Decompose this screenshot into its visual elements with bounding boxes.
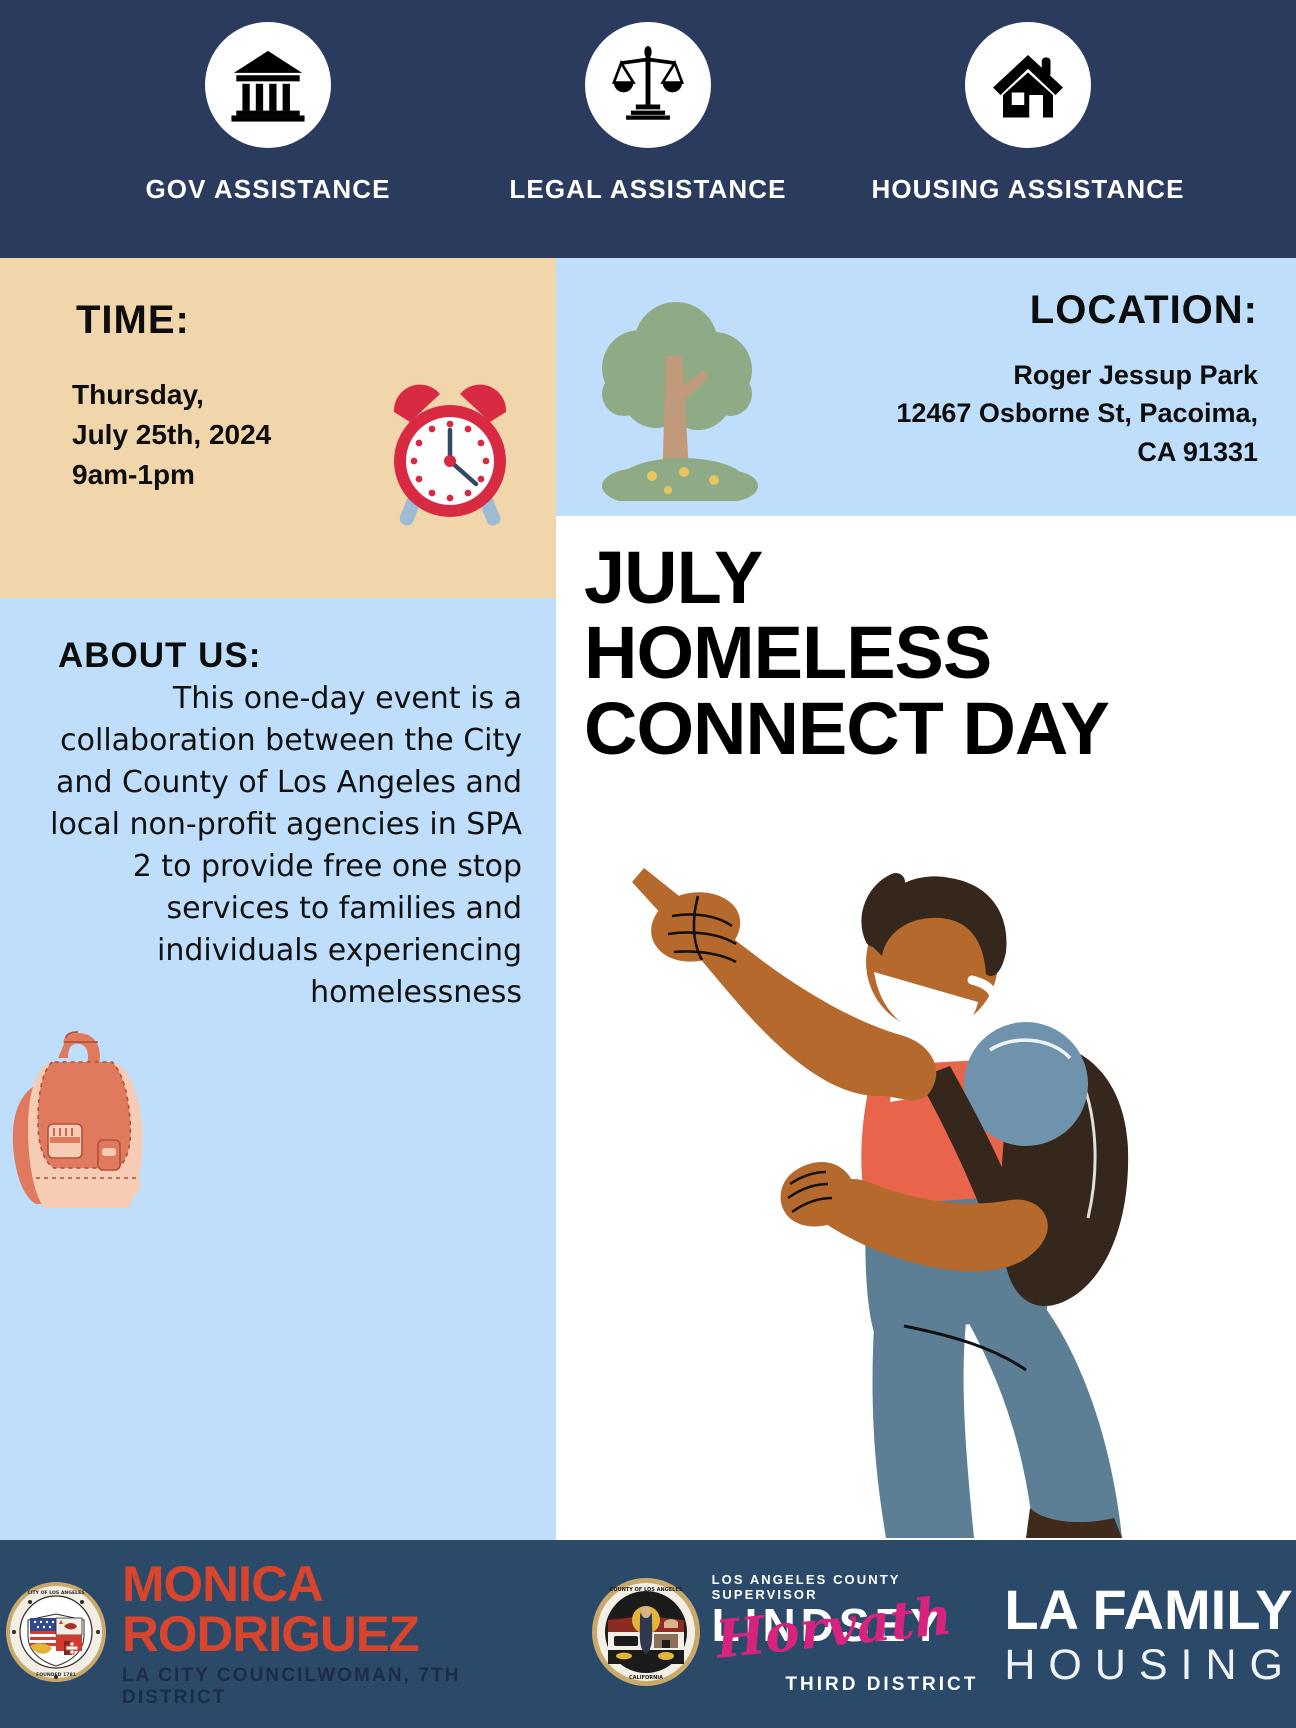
about-body: This one-day event is a collaboration be… xyxy=(36,678,522,1014)
svg-text:CALIFORNIA: CALIFORNIA xyxy=(629,1675,663,1681)
time-day: Thursday, xyxy=(72,375,271,415)
location-city: CA 91331 xyxy=(896,433,1258,471)
location-street: 12467 Osborne St, Pacoima, xyxy=(896,394,1258,432)
time-heading: TIME: xyxy=(76,298,190,343)
sponsor-name-top: LA FAMILY xyxy=(1004,1582,1296,1638)
time-details: Thursday, July 25th, 2024 9am-1pm xyxy=(72,375,271,494)
backpack-icon xyxy=(6,1028,156,1218)
person-with-backpack-pointing-icon xyxy=(574,766,1134,1540)
page-title-line-2: HOMELESS xyxy=(584,615,1109,690)
page-title-line-3: CONNECT DAY xyxy=(584,691,1109,766)
lindsey-text-block: LOS ANGELES COUNTY SUPERVISOR LINDSEY Ho… xyxy=(712,1572,979,1696)
service-gov-assistance: GOV ASSISTANCE xyxy=(78,0,458,205)
time-panel: TIME: Thursday, July 25th, 2024 9am-1pm xyxy=(0,258,556,598)
about-heading: ABOUT US: xyxy=(58,636,261,676)
sponsor-subtitle: THIRD DISTRICT xyxy=(712,1674,979,1696)
county-of-los-angeles-seal-icon: COUNTY OF LOS ANGELES CALIFORNIA xyxy=(590,1576,702,1693)
page-title: JULY HOMELESS CONNECT DAY xyxy=(584,540,1109,766)
location-panel: LOCATION: Roger Jessup Park 12467 Osborn… xyxy=(556,258,1296,516)
service-label: HOUSING ASSISTANCE xyxy=(871,174,1184,205)
time-date: July 25th, 2024 xyxy=(72,415,271,455)
svg-text:CITY OF LOS ANGELES: CITY OF LOS ANGELES xyxy=(27,1590,84,1596)
bank-icon xyxy=(205,22,331,148)
alarm-clock-icon xyxy=(380,366,520,536)
city-of-los-angeles-seal-icon: CITY OF LOS ANGELES FOUNDED 1781 xyxy=(4,1580,108,1689)
services-bar: GOV ASSISTANCE LEGAL ASSISTANCE xyxy=(0,0,1296,258)
tree-icon xyxy=(578,286,768,506)
service-label: LEGAL ASSISTANCE xyxy=(509,174,786,205)
sponsor-name-bottom: HOUSING xyxy=(1004,1644,1296,1687)
about-panel: ABOUT US: This one-day event is a collab… xyxy=(0,598,556,1540)
hero-panel: JULY HOMELESS CONNECT DAY xyxy=(556,516,1296,1540)
location-details: Roger Jessup Park 12467 Osborne St, Paco… xyxy=(896,356,1258,471)
house-icon xyxy=(965,22,1091,148)
footer-sponsors: CITY OF LOS ANGELES FOUNDED 1781 MONICA … xyxy=(0,1540,1296,1728)
location-heading: LOCATION: xyxy=(1030,288,1258,333)
sponsor-name: MONICA RODRIGUEZ xyxy=(122,1559,581,1659)
svg-text:COUNTY OF LOS ANGELES: COUNTY OF LOS ANGELES xyxy=(609,1587,682,1593)
location-venue: Roger Jessup Park xyxy=(896,356,1258,394)
page-title-line-1: JULY xyxy=(584,540,1109,615)
scales-of-justice-icon xyxy=(585,22,711,148)
sponsor-lindsey-horvath: COUNTY OF LOS ANGELES CALIFORNIA LOS ANG… xyxy=(590,1572,979,1696)
service-housing-assistance: HOUSING ASSISTANCE xyxy=(838,0,1218,205)
service-label: GOV ASSISTANCE xyxy=(145,174,390,205)
sponsor-la-family-housing: LA FAMILY HOUSING xyxy=(1004,1582,1296,1687)
sponsor-subtitle: LA CITY COUNCILWOMAN, 7TH DISTRICT xyxy=(122,1665,572,1709)
sponsor-monica-rodriguez: CITY OF LOS ANGELES FOUNDED 1781 MONICA … xyxy=(4,1559,572,1709)
service-legal-assistance: LEGAL ASSISTANCE xyxy=(458,0,838,205)
time-hours: 9am-1pm xyxy=(72,455,271,495)
monica-text-block: MONICA RODRIGUEZ LA CITY COUNCILWOMAN, 7… xyxy=(122,1559,572,1709)
